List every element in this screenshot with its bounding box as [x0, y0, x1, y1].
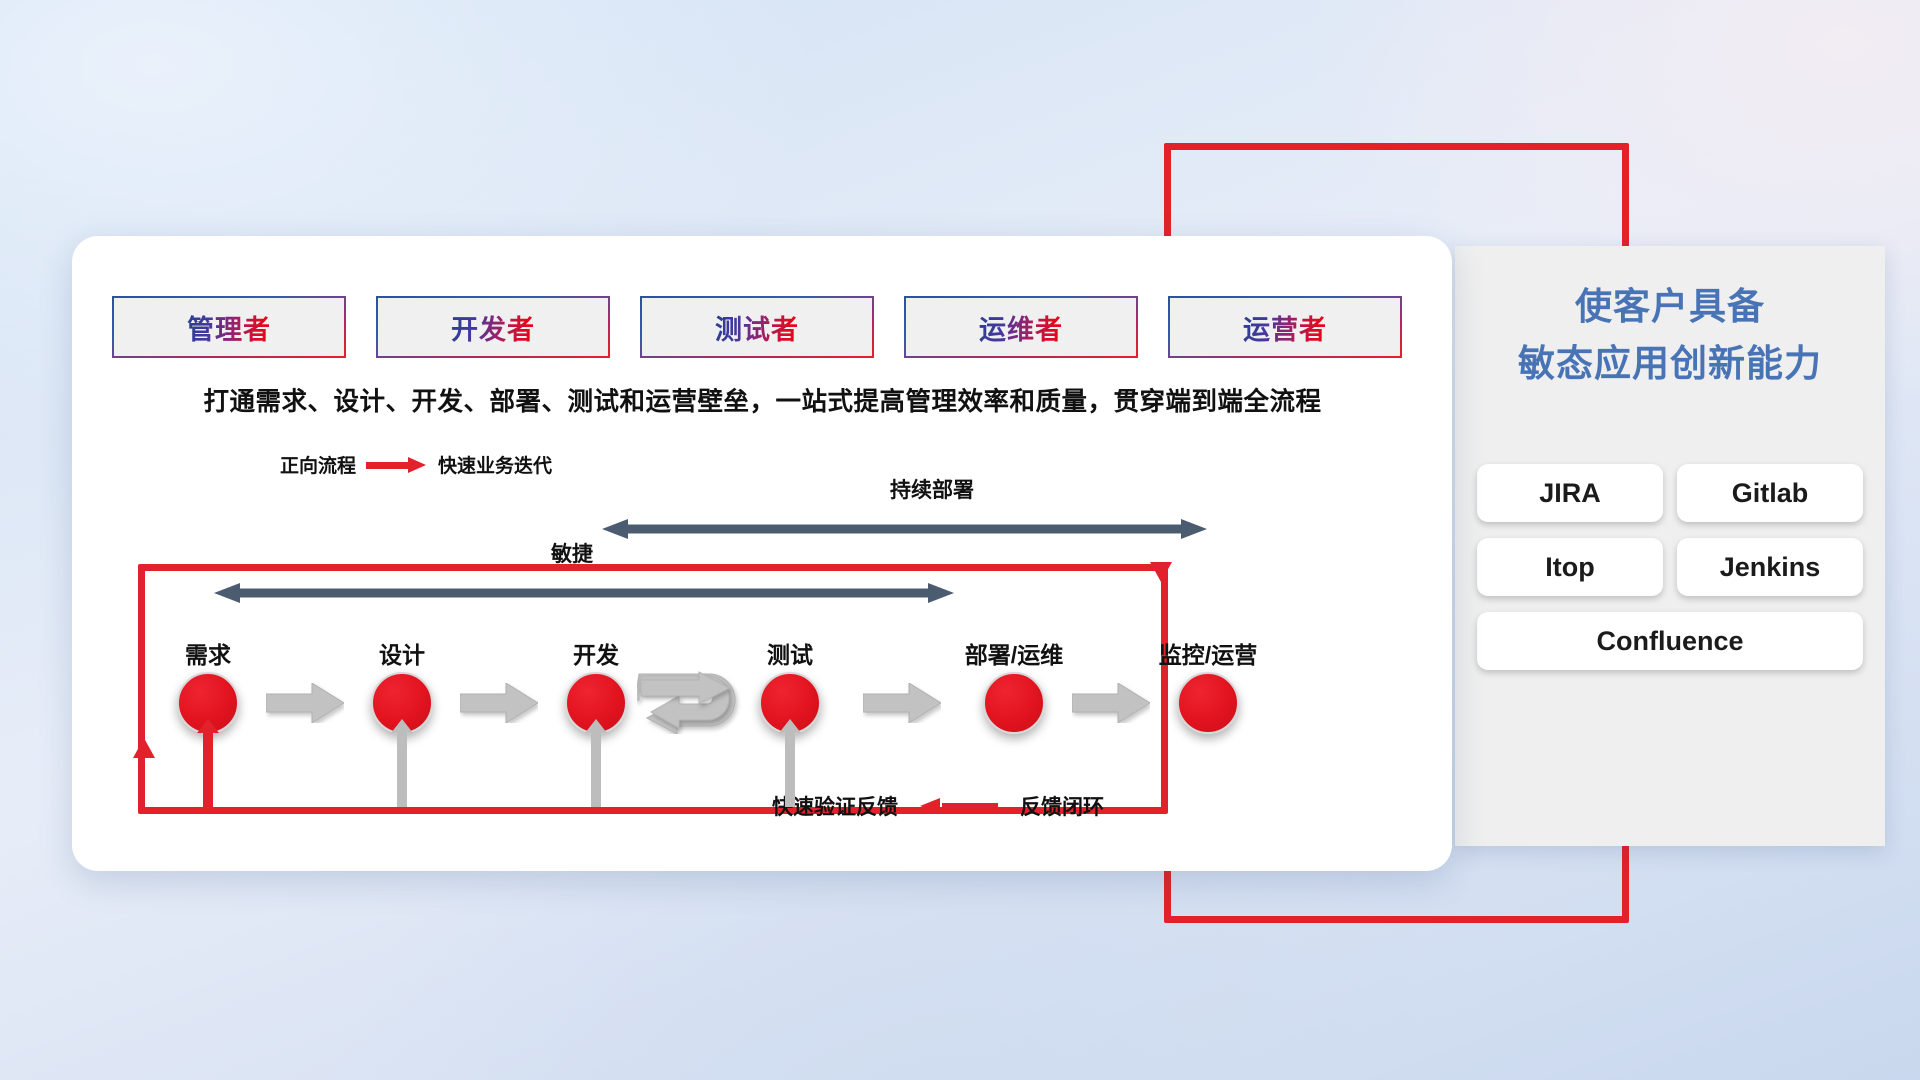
role-box-label: 管理者 — [187, 308, 271, 347]
pipeline-stage-dot — [983, 672, 1045, 734]
tool-chip-gitlab[interactable]: Gitlab — [1677, 464, 1863, 522]
pipeline-stage-label: 需求 — [185, 636, 231, 670]
role-box-3[interactable]: 测试者 — [640, 296, 874, 358]
arrow-right-red-icon — [366, 457, 428, 473]
feeder-gray-design-arrowhead-icon — [391, 719, 413, 733]
pipeline-stage-label: 测试 — [767, 636, 813, 670]
pipeline-stage-dot — [1177, 672, 1239, 734]
role-boxes: 管理者开发者测试者运维者运营者 — [112, 296, 1402, 358]
pipeline-arrow-1-icon — [266, 683, 344, 723]
role-box-4[interactable]: 运维者 — [904, 296, 1138, 358]
feeder-red-demand-arrowhead-icon — [197, 719, 219, 733]
devops-pipeline: 需求设计开发测试部署/运维监控/运营 — [112, 616, 1412, 766]
feeder-gray-test-arrowhead-icon — [779, 719, 801, 733]
role-box-label: 测试者 — [715, 308, 799, 347]
feedback-loop-arrow-down-icon — [1150, 554, 1172, 582]
feedback-source-label: 反馈闭环 — [1020, 791, 1104, 821]
role-box-label: 开发者 — [451, 308, 535, 347]
pipeline-arrow-2-icon — [460, 683, 538, 723]
forward-flow-legend: 正向流程 快速业务迭代 — [280, 451, 552, 478]
panel-title-line2: 敏态应用创新能力 — [1455, 335, 1885, 392]
continuous-deployment-label: 持续部署 — [672, 474, 1192, 504]
tool-chip-confluence[interactable]: Confluence — [1477, 612, 1863, 670]
main-card: 管理者开发者测试者运维者运营者 打通需求、设计、开发、部署、测试和运营壁垒，一站… — [72, 236, 1452, 871]
tool-chip-jenkins[interactable]: Jenkins — [1677, 538, 1863, 596]
role-box-1[interactable]: 管理者 — [112, 296, 346, 358]
panel-title-line1: 使客户具备 — [1575, 286, 1765, 327]
tool-chip-jira[interactable]: JIRA — [1477, 464, 1663, 522]
pipeline-stage-5[interactable]: 部署/运维 — [983, 672, 1045, 734]
pipeline-stage-label: 部署/运维 — [965, 636, 1063, 670]
pipeline-stage-label: 设计 — [379, 636, 425, 670]
pipeline-stage-label: 监控/运营 — [1159, 636, 1257, 670]
role-box-label: 运维者 — [979, 308, 1063, 347]
forward-flow-target-label: 快速业务迭代 — [438, 451, 552, 478]
slide-canvas: 使客户具备 敏态应用创新能力 JIRAGitlabItopJenkinsConf… — [0, 0, 1920, 1080]
pipeline-arrow-4-icon — [1072, 683, 1150, 723]
rework-loop-arrow-icon — [637, 666, 749, 734]
feedback-legend: 快速验证反馈 反馈闭环 — [772, 791, 1104, 821]
feeder-gray-test — [785, 732, 795, 807]
feeder-red-demand — [203, 732, 213, 807]
pipeline-stage-6[interactable]: 监控/运营 — [1177, 672, 1239, 734]
pipeline-stage-label: 开发 — [573, 636, 619, 670]
role-box-2[interactable]: 开发者 — [376, 296, 610, 358]
role-box-label: 运营者 — [1243, 308, 1327, 347]
arrow-left-red-icon — [920, 798, 998, 814]
feeder-gray-develop-arrowhead-icon — [585, 719, 607, 733]
tools-panel: 使客户具备 敏态应用创新能力 JIRAGitlabItopJenkinsConf… — [1455, 246, 1885, 846]
feeder-gray-design — [397, 732, 407, 807]
feeder-gray-develop — [591, 732, 601, 807]
tool-chip-itop[interactable]: Itop — [1477, 538, 1663, 596]
forward-flow-source-label: 正向流程 — [280, 451, 356, 478]
description-text: 打通需求、设计、开发、部署、测试和运营壁垒，一站式提高管理效率和质量，贯穿端到端… — [110, 381, 1415, 418]
role-box-5[interactable]: 运营者 — [1168, 296, 1402, 358]
tool-chip-list: JIRAGitlabItopJenkinsConfluence — [1465, 464, 1875, 670]
continuous-deployment-arrow-icon — [602, 519, 1207, 539]
panel-title: 使客户具备 敏态应用创新能力 — [1455, 278, 1885, 393]
pipeline-arrow-3-icon — [863, 683, 941, 723]
